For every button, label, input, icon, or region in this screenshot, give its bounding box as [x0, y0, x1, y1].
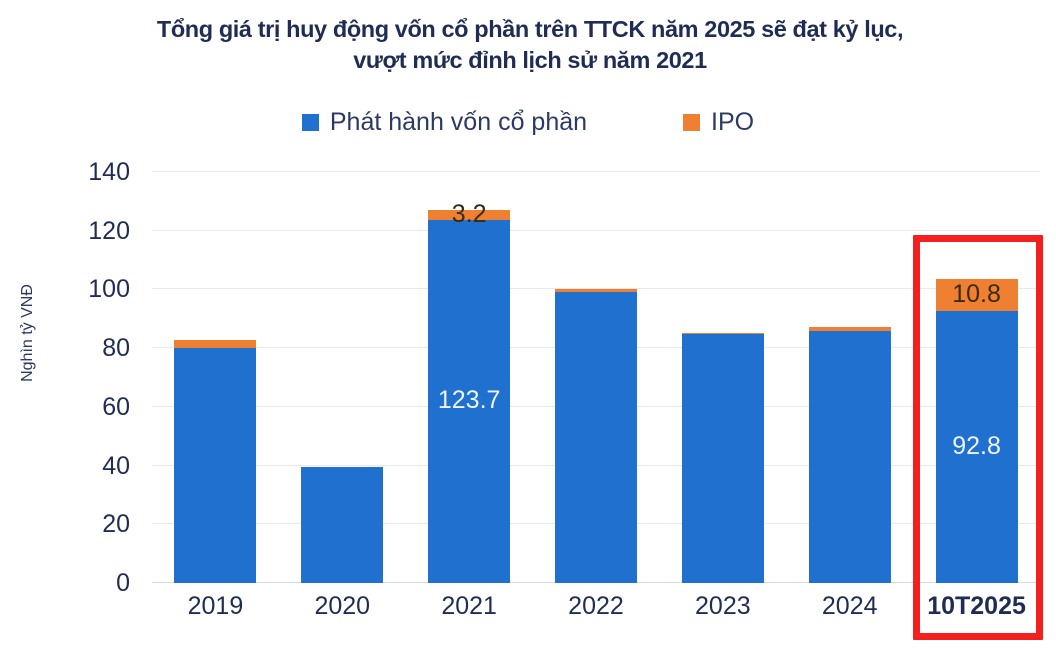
chart-title-line-1: Tổng giá trị huy động vốn cổ phần trên T… [60, 14, 1000, 45]
legend-item[interactable]: IPO [683, 110, 754, 135]
plot-area [152, 172, 1040, 583]
legend-item-label: IPO [711, 110, 754, 135]
x-axis-tick-label: 2022 [533, 594, 660, 619]
highlight-box-10t2025 [913, 235, 1043, 640]
y-axis-tick-label: 80 [46, 336, 130, 361]
bar-group[interactable] [682, 333, 764, 583]
square-swatch-icon [683, 114, 700, 131]
y-axis-tick-label: 100 [46, 277, 130, 302]
stacked-bar-chart: Tổng giá trị huy động vốn cổ phần trên T… [0, 0, 1056, 648]
x-axis-tick-label: 2023 [659, 594, 786, 619]
x-axis-tick-label: 2020 [279, 594, 406, 619]
y-axis-tick-label: 20 [46, 512, 130, 537]
chart-title-line-2: vượt mức đỉnh lịch sử năm 2021 [60, 45, 1000, 76]
chart-title: Tổng giá trị huy động vốn cổ phần trên T… [60, 14, 1000, 76]
bar-segment-equity-issuance[interactable] [555, 292, 637, 583]
bar-segment-ipo[interactable] [682, 333, 764, 334]
square-swatch-icon [302, 114, 319, 131]
y-axis-tick-label: 120 [46, 219, 130, 244]
bar-segment-equity-issuance[interactable] [174, 348, 256, 583]
bar-group[interactable] [301, 467, 383, 583]
gridline [152, 171, 1040, 172]
gridline [152, 230, 1040, 231]
bar-segment-ipo[interactable] [555, 289, 637, 292]
y-axis-title: Nghìn tỷ VNĐ [19, 263, 37, 403]
bar-group[interactable] [555, 289, 637, 583]
legend-item-label: Phát hành vốn cổ phần [330, 110, 587, 135]
bar-segment-ipo[interactable] [174, 340, 256, 348]
y-axis-tick-label: 140 [46, 160, 130, 185]
y-axis-tick-label: 60 [46, 395, 130, 420]
bar-segment-equity-issuance[interactable] [301, 467, 383, 583]
bar-segment-equity-issuance[interactable] [809, 331, 891, 583]
x-axis-tick-label: 2021 [406, 594, 533, 619]
bar-segment-equity-issuance[interactable] [682, 334, 764, 583]
bar-group[interactable] [174, 340, 256, 583]
y-axis-tick-label: 40 [46, 454, 130, 479]
x-axis-tick-label: 2024 [786, 594, 913, 619]
legend-item[interactable]: Phát hành vốn cổ phần [302, 110, 587, 135]
chart-legend: Phát hành vốn cổ phầnIPO [0, 110, 1056, 135]
bar-group[interactable] [809, 327, 891, 583]
bar-segment-ipo[interactable] [809, 327, 891, 331]
bar-segment-ipo[interactable] [428, 210, 510, 219]
bar-segment-equity-issuance[interactable] [428, 220, 510, 583]
x-axis-tick-label: 2019 [152, 594, 279, 619]
y-axis-tick-label: 0 [46, 571, 130, 596]
bar-group[interactable] [428, 210, 510, 583]
